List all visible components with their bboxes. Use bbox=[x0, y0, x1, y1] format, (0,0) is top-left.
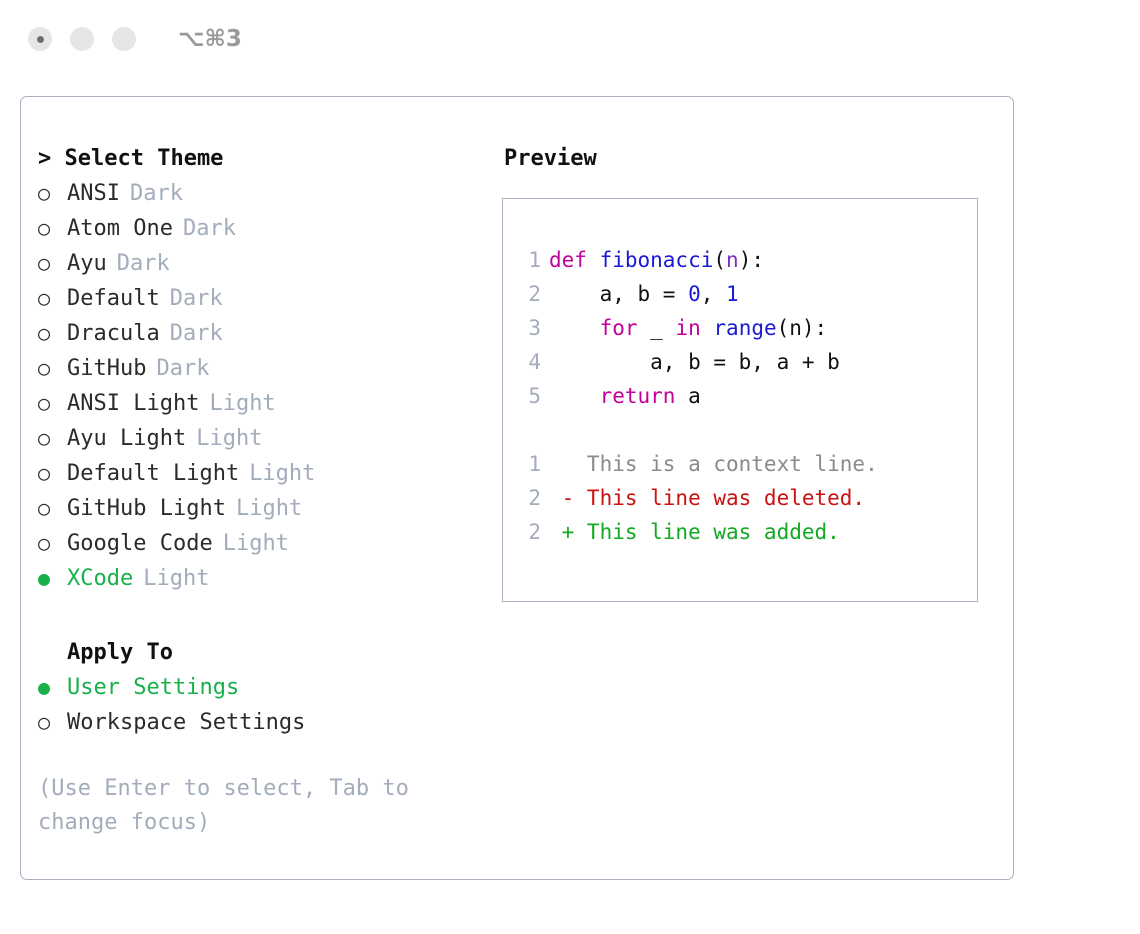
radio-unselected-icon: ○ bbox=[38, 211, 67, 245]
code-token bbox=[549, 384, 600, 408]
theme-option-google-code[interactable]: ○Google CodeLight bbox=[38, 526, 491, 561]
code-token: n bbox=[726, 248, 739, 272]
theme-option-label: ANSI bbox=[67, 177, 120, 211]
line-number: 2 bbox=[515, 515, 549, 549]
theme-variant-badge: Dark bbox=[160, 282, 223, 316]
theme-variant-badge: Dark bbox=[173, 212, 236, 246]
window-dot-active[interactable] bbox=[28, 27, 52, 51]
line-number: 2 bbox=[515, 277, 549, 311]
code-token: a bbox=[675, 384, 700, 408]
radio-unselected-icon: ○ bbox=[38, 246, 67, 280]
code-line: 5 return a bbox=[515, 379, 977, 413]
radio-selected-icon: ● bbox=[38, 561, 67, 595]
theme-variant-badge: Light bbox=[199, 387, 275, 421]
code-line: 2 a, b = 0, 1 bbox=[515, 277, 977, 311]
line-number: 1 bbox=[515, 243, 549, 277]
preview-box: 1def fibonacci(n):2 a, b = 0, 13 for _ i… bbox=[502, 198, 978, 602]
theme-option-xcode[interactable]: ●XCodeLight bbox=[38, 561, 491, 596]
theme-variant-badge: Light bbox=[226, 492, 302, 526]
theme-option-label: GitHub Light bbox=[67, 492, 226, 526]
line-number: 5 bbox=[515, 379, 549, 413]
theme-option-default[interactable]: ○DefaultDark bbox=[38, 281, 491, 316]
theme-option-github[interactable]: ○GitHubDark bbox=[38, 351, 491, 386]
theme-picker-column: > Select Theme ○ANSIDark○Atom OneDark○Ay… bbox=[21, 97, 491, 879]
line-number: 1 bbox=[515, 447, 549, 481]
diff-sample: 1 This is a context line.2 - This line w… bbox=[515, 447, 977, 549]
code-token bbox=[549, 316, 600, 340]
code-token: fibonacci bbox=[600, 248, 714, 272]
preview-column: Preview 1def fibonacci(n):2 a, b = 0, 13… bbox=[491, 97, 1013, 879]
code-line: 1def fibonacci(n): bbox=[515, 243, 977, 277]
theme-option-list: ○ANSIDark○Atom OneDark○AyuDark○DefaultDa… bbox=[38, 176, 491, 596]
page-title: > Select Theme bbox=[38, 142, 491, 176]
diff-line-text: - This line was deleted. bbox=[549, 486, 865, 510]
code-token: _ bbox=[638, 316, 676, 340]
diff-line-del: 2 - This line was deleted. bbox=[515, 481, 977, 515]
theme-option-label: Default bbox=[67, 282, 160, 316]
theme-option-label: Ayu bbox=[67, 247, 107, 281]
spacer bbox=[515, 413, 977, 447]
title-bar: ⌥⌘3 bbox=[0, 0, 1140, 78]
theme-variant-badge: Light bbox=[186, 422, 262, 456]
radio-selected-icon: ● bbox=[38, 670, 67, 704]
theme-option-github-light[interactable]: ○GitHub LightLight bbox=[38, 491, 491, 526]
radio-unselected-icon: ○ bbox=[38, 705, 67, 739]
theme-variant-badge: Light bbox=[213, 527, 289, 561]
theme-variant-badge: Dark bbox=[146, 352, 209, 386]
diff-line-add: 2 + This line was added. bbox=[515, 515, 977, 549]
theme-option-ayu-light[interactable]: ○Ayu LightLight bbox=[38, 421, 491, 456]
code-line: 4 a, b = b, a + b bbox=[515, 345, 977, 379]
radio-unselected-icon: ○ bbox=[38, 351, 67, 385]
theme-option-label: XCode bbox=[67, 562, 133, 596]
diff-line-text: + This line was added. bbox=[549, 520, 840, 544]
code-token: 1 bbox=[726, 282, 739, 306]
apply-to-heading: Apply To bbox=[38, 636, 491, 670]
window-dot-active-inner bbox=[37, 36, 44, 43]
theme-option-label: Atom One bbox=[67, 212, 173, 246]
apply-to-option-label: User Settings bbox=[67, 671, 239, 705]
radio-unselected-icon: ○ bbox=[38, 421, 67, 455]
radio-unselected-icon: ○ bbox=[38, 456, 67, 490]
theme-variant-badge: Dark bbox=[160, 317, 223, 351]
apply-to-option-workspace-settings[interactable]: ○Workspace Settings bbox=[38, 705, 491, 740]
diff-line-ctx: 1 This is a context line. bbox=[515, 447, 977, 481]
theme-option-atom-one[interactable]: ○Atom OneDark bbox=[38, 211, 491, 246]
window-dot-third[interactable] bbox=[112, 27, 136, 51]
app-window: ⌥⌘3 > Select Theme ○ANSIDark○Atom OneDar… bbox=[0, 0, 1140, 934]
theme-option-label: Ayu Light bbox=[67, 422, 186, 456]
code-sample: 1def fibonacci(n):2 a, b = 0, 13 for _ i… bbox=[515, 243, 977, 413]
window-controls bbox=[28, 27, 136, 51]
theme-option-ayu[interactable]: ○AyuDark bbox=[38, 246, 491, 281]
line-number: 2 bbox=[515, 481, 549, 515]
code-token: def bbox=[549, 248, 600, 272]
theme-option-ansi[interactable]: ○ANSIDark bbox=[38, 176, 491, 211]
code-line: 3 for _ in range(n): bbox=[515, 311, 977, 345]
line-number: 3 bbox=[515, 311, 549, 345]
code-token: , bbox=[701, 282, 726, 306]
theme-option-ansi-light[interactable]: ○ANSI LightLight bbox=[38, 386, 491, 421]
code-token: ( bbox=[713, 248, 726, 272]
code-token bbox=[701, 316, 714, 340]
radio-unselected-icon: ○ bbox=[38, 386, 67, 420]
theme-option-label: ANSI Light bbox=[67, 387, 199, 421]
radio-unselected-icon: ○ bbox=[38, 176, 67, 210]
theme-option-dracula[interactable]: ○DraculaDark bbox=[38, 316, 491, 351]
spacer bbox=[38, 740, 491, 772]
main-panel: > Select Theme ○ANSIDark○Atom OneDark○Ay… bbox=[20, 96, 1014, 880]
theme-variant-badge: Light bbox=[133, 562, 209, 596]
code-token: range bbox=[713, 316, 776, 340]
code-token: a, b = b, a + b bbox=[549, 350, 840, 374]
window-dot-second[interactable] bbox=[70, 27, 94, 51]
radio-unselected-icon: ○ bbox=[38, 491, 67, 525]
keyboard-shortcut-label: ⌥⌘3 bbox=[178, 26, 242, 52]
apply-to-option-label: Workspace Settings bbox=[67, 706, 305, 740]
theme-variant-badge: Dark bbox=[107, 247, 170, 281]
code-token: in bbox=[675, 316, 700, 340]
code-token: (n): bbox=[777, 316, 828, 340]
theme-option-label: GitHub bbox=[67, 352, 146, 386]
apply-to-option-list: ●User Settings○Workspace Settings bbox=[38, 670, 491, 740]
theme-option-label: Default Light bbox=[67, 457, 239, 491]
radio-unselected-icon: ○ bbox=[38, 281, 67, 315]
preview-title: Preview bbox=[502, 142, 1013, 176]
theme-option-label: Dracula bbox=[67, 317, 160, 351]
code-token: 0 bbox=[688, 282, 701, 306]
line-number: 4 bbox=[515, 345, 549, 379]
code-token: return bbox=[600, 384, 676, 408]
diff-line-text: This is a context line. bbox=[549, 452, 878, 476]
help-hint: (Use Enter to select, Tab to change focu… bbox=[38, 772, 438, 840]
radio-unselected-icon: ○ bbox=[38, 526, 67, 560]
code-token: ): bbox=[739, 248, 764, 272]
spacer bbox=[38, 596, 491, 636]
theme-option-default-light[interactable]: ○Default LightLight bbox=[38, 456, 491, 491]
theme-option-label: Google Code bbox=[67, 527, 213, 561]
code-token: a, b = bbox=[549, 282, 688, 306]
theme-variant-badge: Light bbox=[239, 457, 315, 491]
apply-to-option-user-settings[interactable]: ●User Settings bbox=[38, 670, 491, 705]
code-token: for bbox=[600, 316, 638, 340]
theme-variant-badge: Dark bbox=[120, 177, 183, 211]
radio-unselected-icon: ○ bbox=[38, 316, 67, 350]
